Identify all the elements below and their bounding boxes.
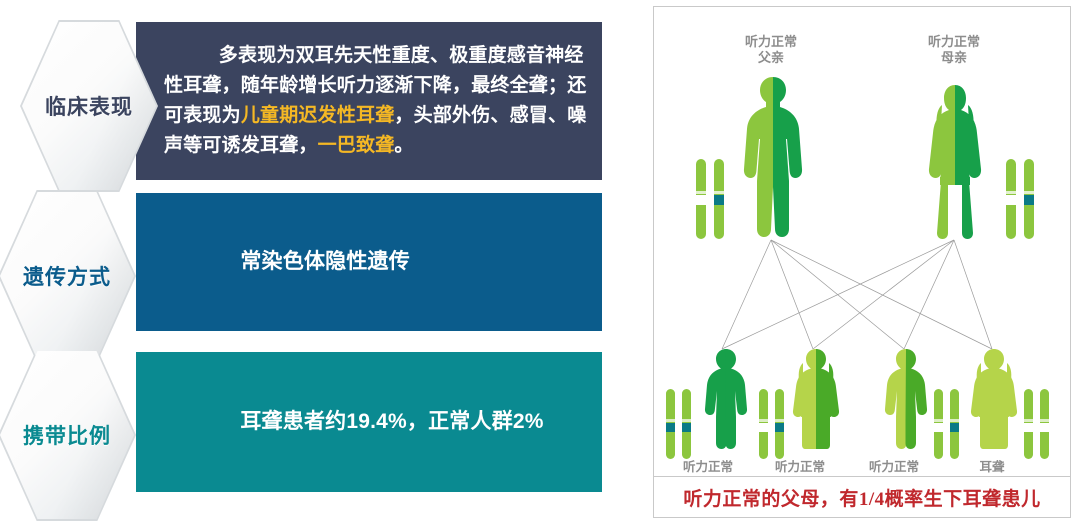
parent-label-father: 听力正常 父亲 (716, 34, 826, 66)
info-row-clinical-bar: 多表现为双耳先天性重度、极重度感音神经性耳聋，随年龄增长听力逐渐下降，最终全聋；… (136, 22, 602, 180)
clinical-seg-1-highlight: 儿童期迟发性耳聋 (241, 105, 395, 126)
inheritance-seg-0: 常染色体隐性遗传 (240, 250, 410, 273)
clinical-seg-3-highlight: 一巴致聋 (318, 135, 395, 156)
hex-label-inheritance: 遗传方式 (23, 261, 111, 291)
hex-inheritance: 遗传方式 (0, 192, 134, 360)
info-row-carrier: 耳聋患者约19.4%，正常人群2% 携带比例 (0, 352, 640, 492)
info-row-carrier-text: 耳聋患者约19.4%，正常人群2% (180, 377, 544, 467)
child-3-chromosome-pair (932, 389, 964, 459)
info-row-clinical: 多表现为双耳先天性重度、极重度感音神经性耳聋，随年龄增长听力逐渐下降，最终全聋；… (0, 22, 640, 180)
pedigree-caption-text: 听力正常的父母，有1/4概率生下耳聋患儿 (683, 484, 1040, 511)
child-label-3: 听力正常 (846, 459, 942, 475)
pedigree-panel: 听力正常 父亲 听力正常 母亲 (653, 6, 1071, 518)
mother-chromosome-pair (1004, 159, 1038, 239)
child-4-figure-icon (970, 349, 1018, 449)
child-label-2: 听力正常 (752, 459, 848, 475)
hex-label-clinical: 临床表现 (45, 91, 133, 121)
child-3-figure-icon (882, 349, 930, 449)
info-row-clinical-text: 多表现为双耳先天性重度、极重度感音神经性耳聋，随年龄增长听力逐渐下降，最终全聋；… (164, 11, 588, 191)
info-row-inheritance-text: 常染色体隐性遗传 (180, 217, 410, 307)
father-figure-icon (742, 77, 804, 239)
hex-carrier: 携带比例 (0, 351, 134, 519)
child-1-figure-icon (702, 349, 750, 449)
info-row-carrier-bar: 耳聋患者约19.4%，正常人群2% (136, 352, 602, 492)
father-chromosome-pair (694, 159, 728, 239)
info-rows-panel: 多表现为双耳先天性重度、极重度感音神经性耳聋，随年龄增长听力逐渐下降，最终全聋；… (0, 0, 640, 524)
parent-label-mother: 听力正常 母亲 (899, 34, 1009, 66)
child-label-1: 听力正常 (660, 459, 756, 475)
info-row-inheritance-bar: 常染色体隐性遗传 (136, 193, 602, 331)
info-row-inheritance: 常染色体隐性遗传 遗传方式 (0, 193, 640, 331)
child-1-chromosome-pair (664, 389, 696, 459)
child-2-chromosome-pair (757, 389, 789, 459)
child-2-figure-icon (792, 349, 840, 449)
pedigree-caption-box: 听力正常的父母，有1/4概率生下耳聋患儿 (653, 476, 1071, 518)
child-4-chromosome-pair (1022, 389, 1054, 459)
slide-canvas: 多表现为双耳先天性重度、极重度感音神经性耳聋，随年龄增长听力逐渐下降，最终全聋；… (0, 0, 1078, 524)
carrier-seg-0: 耳聋患者约19.4%，正常人群2% (240, 410, 543, 433)
hex-label-carrier: 携带比例 (23, 420, 111, 450)
child-label-4: 耳聋 (944, 459, 1040, 475)
clinical-seg-4: 。 (394, 135, 413, 156)
mother-figure-icon (928, 85, 982, 239)
